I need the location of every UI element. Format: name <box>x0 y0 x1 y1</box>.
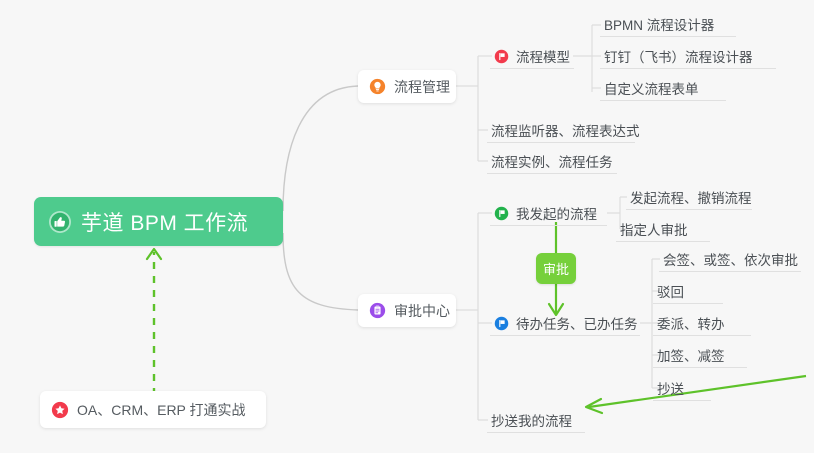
floating-node-label: OA、CRM、ERP 打通实战 <box>77 400 246 420</box>
arrow-oa-to-root-head <box>147 249 161 259</box>
clipboard-icon <box>369 302 386 319</box>
node-process-instance-task[interactable]: 流程实例、流程任务 <box>487 149 617 174</box>
node-label: 自定义流程表单 <box>604 78 699 98</box>
node-dingtalk-feishu-designer[interactable]: 钉钉（飞书）流程设计器 <box>600 44 776 69</box>
root-node[interactable]: 芋道 BPM 工作流 <box>34 197 283 246</box>
callout-label: 审批 <box>543 259 569 278</box>
link-root-to-approval-center <box>283 233 358 310</box>
node-label: 加签、减签 <box>657 345 725 365</box>
branch-node-process-management[interactable]: 流程管理 <box>358 70 456 103</box>
node-label: 指定人审批 <box>620 219 688 239</box>
star-icon <box>51 401 69 419</box>
mindmap-canvas: 芋道 BPM 工作流 流程管理 流程模型 BPMN 流程设计器 钉钉（飞书）流程 <box>0 0 814 453</box>
node-reject[interactable]: 驳回 <box>653 279 723 304</box>
node-label: 钉钉（飞书）流程设计器 <box>604 46 753 66</box>
node-process-model[interactable]: 流程模型 <box>490 44 574 69</box>
node-process-listener-expression[interactable]: 流程监听器、流程表达式 <box>487 118 635 143</box>
floating-node-oa-crm-erp[interactable]: OA、CRM、ERP 打通实战 <box>40 391 266 428</box>
flag-icon <box>494 49 509 64</box>
thumbs-up-icon <box>48 210 72 234</box>
branch-node-label: 审批中心 <box>394 301 450 321</box>
node-countersign-orsign-sequential[interactable]: 会签、或签、依次审批 <box>659 247 801 272</box>
node-todo-done-tasks[interactable]: 待办任务、已办任务 <box>490 311 640 336</box>
node-label: 发起流程、撤销流程 <box>630 187 752 207</box>
node-label: 流程实例、流程任务 <box>491 151 613 171</box>
root-node-label: 芋道 BPM 工作流 <box>81 207 248 237</box>
node-cc[interactable]: 抄送 <box>653 376 711 401</box>
callout-approval[interactable]: 审批 <box>536 253 576 284</box>
node-label: 我发起的流程 <box>516 203 597 223</box>
node-label: 委派、转办 <box>657 313 725 333</box>
lightbulb-icon <box>369 78 386 95</box>
node-label: 抄送 <box>657 378 684 398</box>
node-add-remove-sign[interactable]: 加签、减签 <box>653 343 747 368</box>
node-label: 会签、或签、依次审批 <box>663 249 798 269</box>
flag-icon <box>494 206 509 221</box>
node-my-initiated-processes[interactable]: 我发起的流程 <box>490 201 607 226</box>
link-root-to-process-management <box>283 86 358 211</box>
branch-node-approval-center[interactable]: 审批中心 <box>358 294 456 327</box>
flag-icon <box>494 316 509 331</box>
node-bpmn-designer[interactable]: BPMN 流程设计器 <box>600 12 736 37</box>
branch-node-label: 流程管理 <box>394 77 450 97</box>
node-start-cancel-process[interactable]: 发起流程、撤销流程 <box>626 185 752 210</box>
node-label: 流程监听器、流程表达式 <box>491 120 640 140</box>
node-label: BPMN 流程设计器 <box>604 14 714 34</box>
node-cc-to-me-processes[interactable]: 抄送我的流程 <box>487 408 585 433</box>
node-label: 待办任务、已办任务 <box>516 313 638 333</box>
arrow-cc-to-cc-flow-head <box>586 399 602 413</box>
node-delegate-transfer[interactable]: 委派、转办 <box>653 311 751 336</box>
node-label: 抄送我的流程 <box>491 410 572 430</box>
node-designated-approver[interactable]: 指定人审批 <box>616 217 710 242</box>
node-label: 流程模型 <box>516 46 570 66</box>
node-label: 驳回 <box>657 281 684 301</box>
node-custom-process-form[interactable]: 自定义流程表单 <box>600 76 726 101</box>
